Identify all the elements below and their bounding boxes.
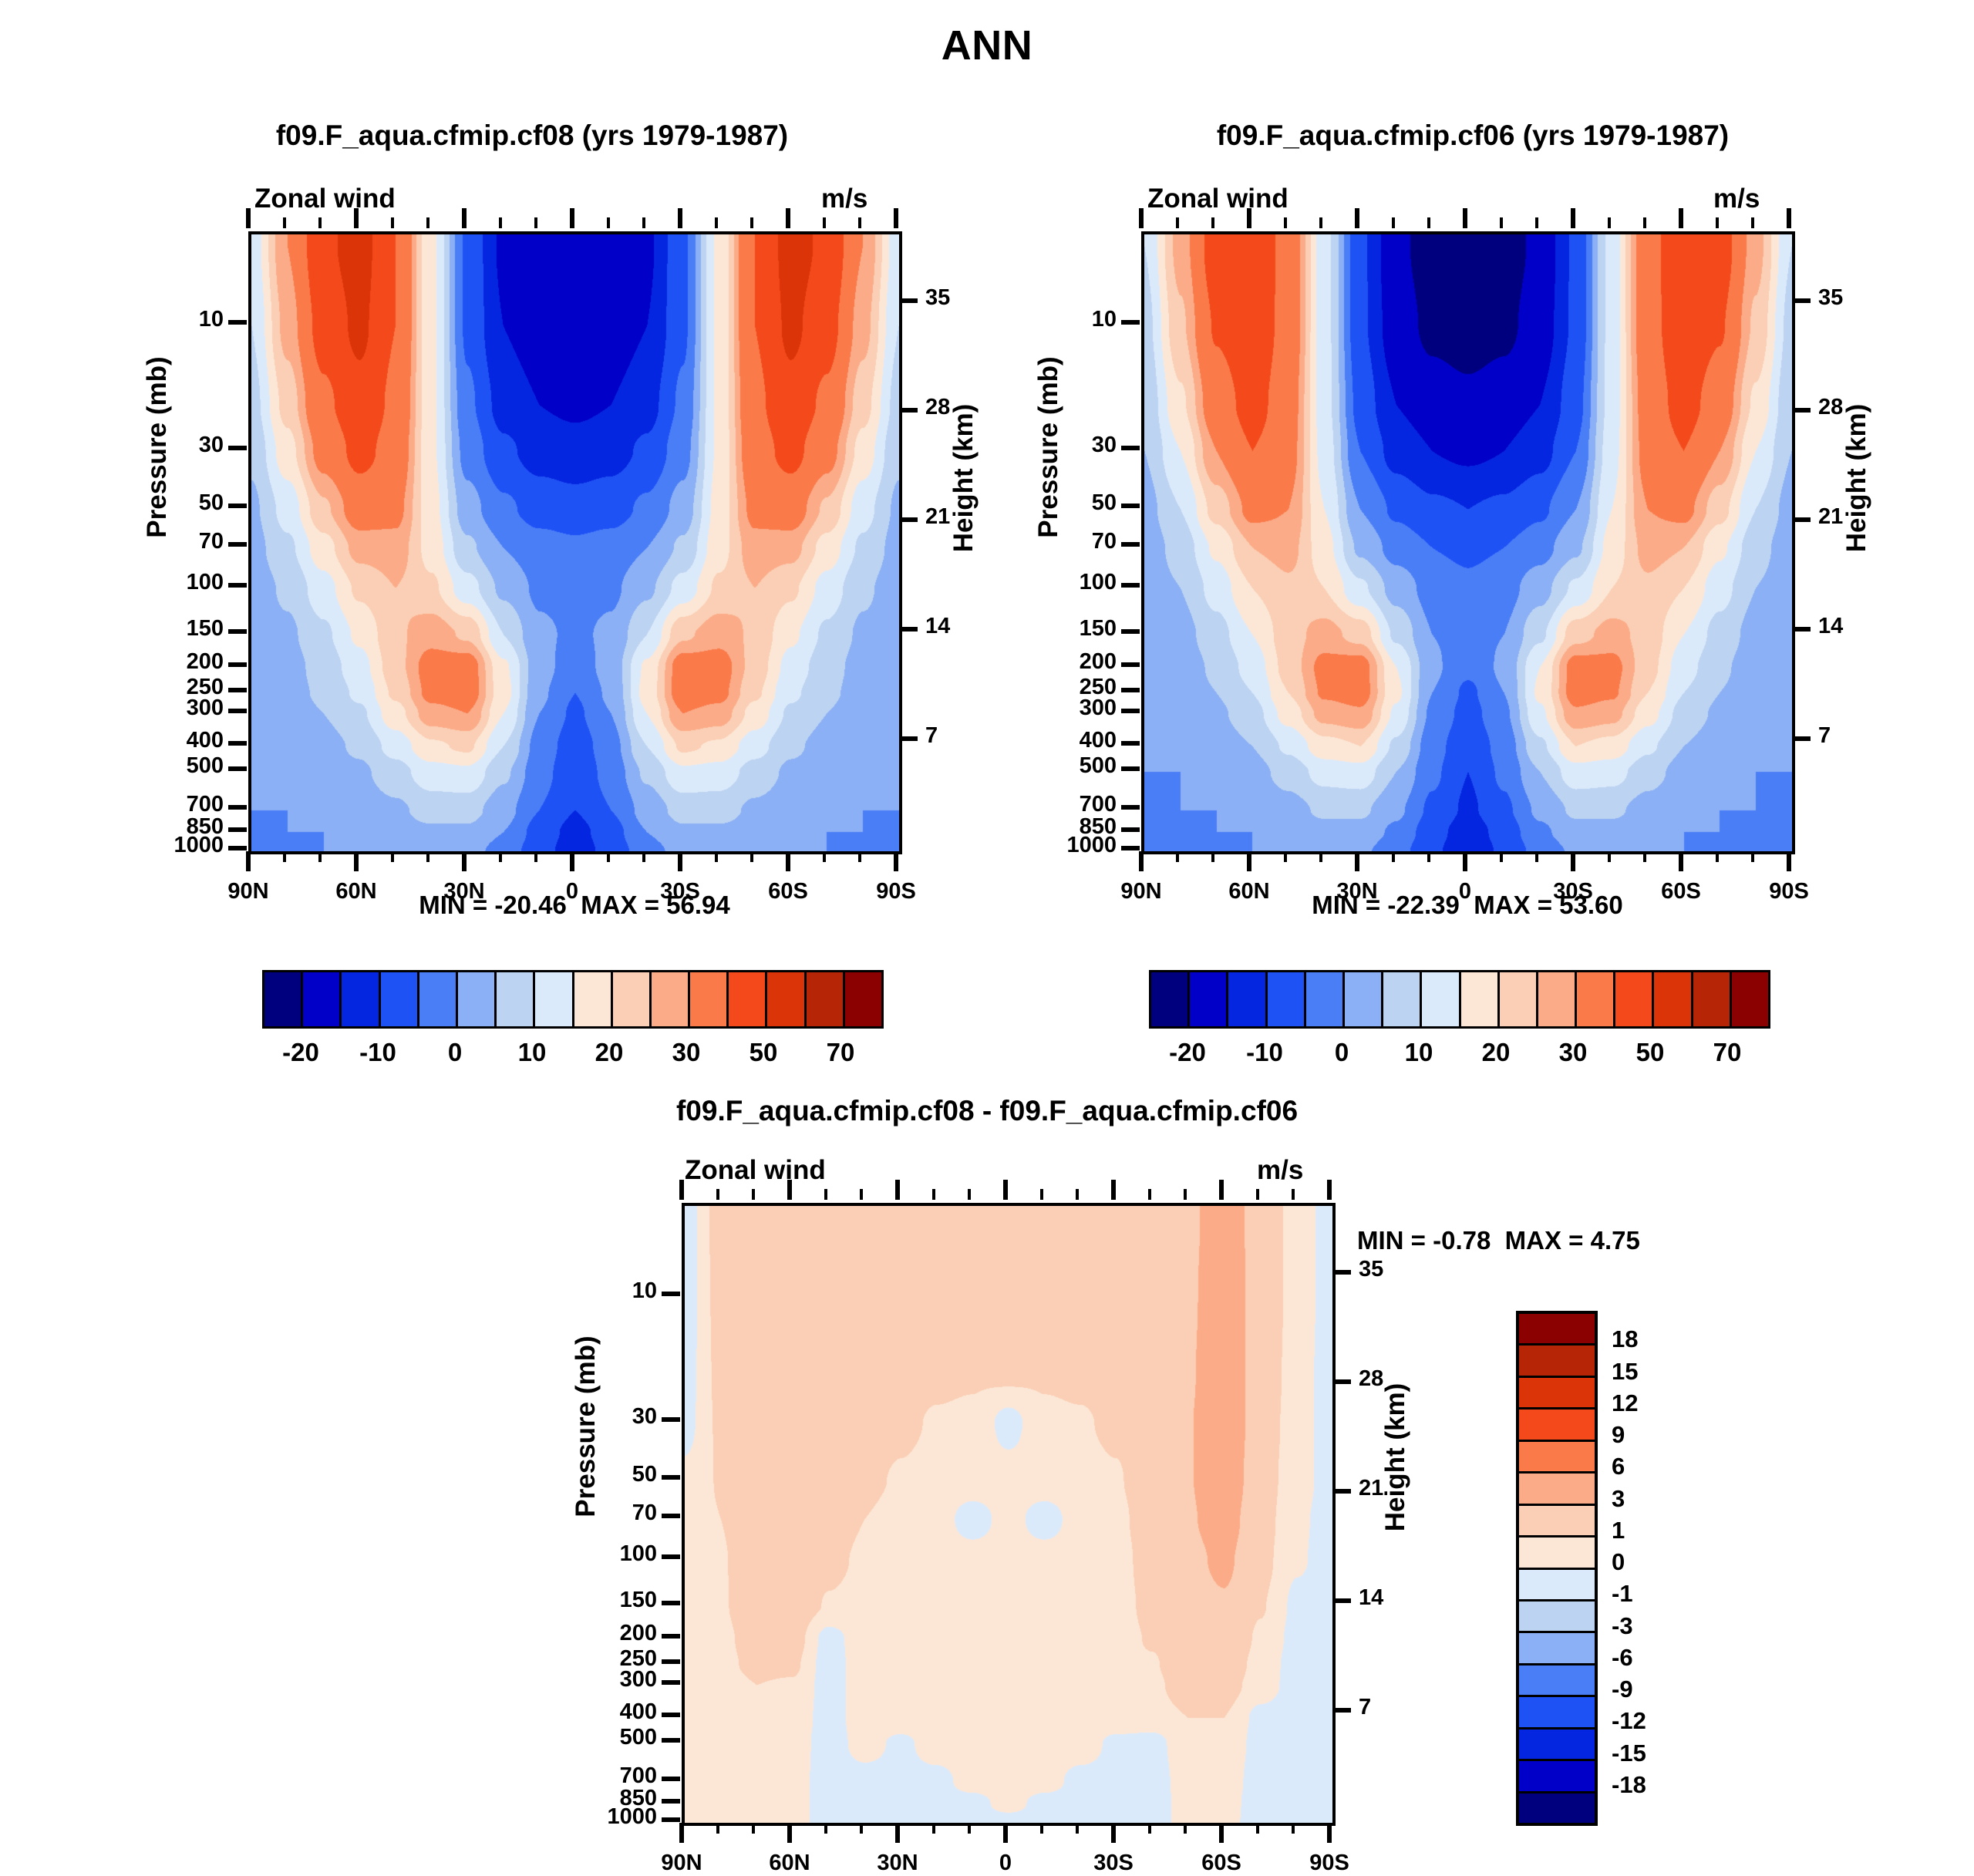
x-minor-tick-top — [715, 217, 718, 228]
height-tick-label: 35 — [1818, 285, 1911, 311]
contour-field-top-left — [251, 234, 899, 851]
colorbar-top-right — [1149, 970, 1770, 1029]
minmax-top-right: MIN = -22.39 MAX = 53.60 — [1155, 891, 1780, 920]
x-major-tick-bottom — [786, 851, 790, 871]
pressure-tick — [1121, 542, 1140, 547]
pressure-tick — [1121, 741, 1140, 746]
x-major-tick-top — [1247, 208, 1251, 228]
colorbar-cell — [419, 972, 458, 1026]
pressure-tick — [1121, 629, 1140, 634]
x-minor-tick-bottom — [283, 851, 286, 862]
pressure-tick — [662, 1634, 680, 1639]
x-minor-tick-top — [1284, 217, 1287, 228]
colorbar-cell — [1538, 972, 1577, 1026]
x-minor-tick-bottom — [1256, 1823, 1259, 1834]
pressure-tick — [228, 688, 247, 692]
colorbar-cell — [1345, 972, 1383, 1026]
height-tick — [899, 517, 918, 522]
pressure-tick — [228, 504, 247, 508]
pressure-tick — [1121, 504, 1140, 508]
x-major-tick-bottom — [787, 1823, 792, 1843]
pressure-tick — [228, 741, 247, 746]
units-label-top-right: m/s — [1713, 184, 1760, 214]
pressure-tick-label: 30 — [79, 433, 224, 458]
height-tick-label: 14 — [1359, 1585, 1451, 1611]
colorbar-tick-label: 70 — [1666, 1038, 1789, 1067]
x-minor-tick-top — [1643, 217, 1646, 228]
height-tick-label: 35 — [1359, 1257, 1451, 1282]
pressure-tick-label: 50 — [972, 490, 1117, 516]
pressure-tick — [1121, 805, 1140, 810]
colorbar-difference — [1516, 1311, 1598, 1826]
x-major-tick-bottom — [462, 851, 467, 871]
colorbar-tick-label: 70 — [779, 1038, 902, 1067]
pressure-tick-label: 50 — [512, 1462, 657, 1487]
pressure-tick-label: 300 — [79, 696, 224, 721]
pressure-tick-label: 10 — [972, 307, 1117, 332]
colorbar-tick-label: -6 — [1612, 1644, 1727, 1672]
min-value-difference: MIN = -0.78 — [1357, 1226, 1491, 1255]
height-tick — [1792, 298, 1811, 303]
colorbar-cell — [1519, 1346, 1595, 1377]
colorbar-cell — [1519, 1538, 1595, 1569]
x-minor-tick-bottom — [499, 851, 502, 862]
height-tick-label: 7 — [1359, 1695, 1451, 1720]
colorbar-cell — [807, 972, 845, 1026]
pressure-tick — [228, 446, 247, 450]
x-major-tick-top — [1111, 1180, 1116, 1200]
x-minor-tick-top — [1751, 217, 1754, 228]
x-minor-tick-bottom — [1751, 851, 1754, 862]
x-minor-tick-bottom — [858, 851, 861, 862]
height-tick — [1792, 627, 1811, 632]
pressure-tick-label: 200 — [79, 649, 224, 675]
x-minor-tick-bottom — [716, 1823, 719, 1834]
x-major-tick-top — [679, 1180, 684, 1200]
pressure-tick — [662, 1417, 680, 1422]
height-tick-label: 21 — [1359, 1476, 1451, 1501]
variable-label-top-left: Zonal wind — [254, 184, 396, 214]
x-minor-tick-top — [1427, 217, 1430, 228]
x-tick-label: 60N — [736, 1851, 844, 1876]
x-minor-tick-top — [1256, 1189, 1259, 1200]
units-label-top-left: m/s — [821, 184, 867, 214]
colorbar-cell — [1461, 972, 1500, 1026]
x-major-tick-bottom — [894, 851, 898, 871]
colorbar-cell — [1519, 1793, 1595, 1823]
colorbar-tick-label: 1 — [1612, 1517, 1727, 1544]
colorbar-tick-label: 15 — [1612, 1358, 1727, 1386]
x-minor-tick-bottom — [607, 851, 610, 862]
pressure-tick-label: 500 — [972, 753, 1117, 779]
pressure-tick — [662, 1601, 680, 1605]
pressure-tick-label: 500 — [512, 1725, 657, 1750]
pressure-tick — [228, 709, 247, 713]
colorbar-cell — [1615, 972, 1654, 1026]
pressure-tick — [662, 1514, 680, 1518]
x-major-tick-bottom — [678, 851, 682, 871]
height-tick — [899, 298, 918, 303]
colorbar-tick-label: 3 — [1612, 1485, 1727, 1513]
pressure-tick-label: 50 — [79, 490, 224, 516]
x-minor-tick-bottom — [1608, 851, 1611, 862]
height-tick — [899, 627, 918, 632]
pressure-tick-label: 150 — [79, 616, 224, 642]
x-tick-label: 60S — [1167, 1851, 1275, 1876]
max-value-top-left: MAX = 56.94 — [581, 891, 730, 919]
contour-field-top-right — [1144, 234, 1792, 851]
height-tick-label: 14 — [1818, 614, 1911, 639]
colorbar-cell — [1519, 1442, 1595, 1474]
pressure-tick-label: 500 — [79, 753, 224, 779]
x-minor-tick-top — [499, 217, 502, 228]
colorbar-cell — [845, 972, 881, 1026]
pressure-tick — [662, 1554, 680, 1559]
x-minor-tick-top — [534, 217, 537, 228]
colorbar-cell — [535, 972, 574, 1026]
x-major-tick-bottom — [1787, 851, 1791, 871]
min-value-top-right: MIN = -22.39 — [1312, 891, 1460, 919]
x-minor-tick-top — [824, 1189, 827, 1200]
x-tick-label: 90N — [628, 1851, 736, 1876]
colorbar-cell — [1519, 1506, 1595, 1538]
figure-title: ANN — [0, 22, 1974, 69]
pressure-tick-label: 400 — [79, 728, 224, 753]
x-major-tick-top — [1355, 208, 1359, 228]
x-minor-tick-bottom — [752, 1823, 755, 1834]
x-minor-tick-top — [1076, 1189, 1079, 1200]
minmax-difference: MIN = -0.78 MAX = 4.75 — [1357, 1226, 1774, 1255]
pressure-tick — [1121, 583, 1140, 588]
pressure-tick — [228, 805, 247, 810]
height-tick-label: 21 — [1818, 504, 1911, 530]
x-minor-tick-bottom — [426, 851, 429, 862]
colorbar-cell — [1151, 972, 1190, 1026]
pressure-tick — [662, 1777, 680, 1781]
colorbar-cell — [1654, 972, 1693, 1026]
panel-title-top-right: f09.F_aqua.cfmip.cf06 (yrs 1979-1987) — [1080, 120, 1866, 152]
colorbar-cell — [1500, 972, 1538, 1026]
x-major-tick-bottom — [1679, 851, 1683, 871]
x-minor-tick-bottom — [968, 1823, 971, 1834]
x-minor-tick-top — [318, 217, 322, 228]
pressure-tick — [228, 766, 247, 771]
panel-title-difference: f09.F_aqua.cfmip.cf08 - f09.F_aqua.cfmip… — [586, 1095, 1388, 1127]
pressure-tick-label: 400 — [972, 728, 1117, 753]
height-tick — [1332, 1379, 1351, 1384]
x-minor-tick-top — [860, 1189, 863, 1200]
x-minor-tick-bottom — [1284, 851, 1287, 862]
panel-title-top-left: f09.F_aqua.cfmip.cf08 (yrs 1979-1987) — [139, 120, 925, 152]
x-major-tick-bottom — [1355, 851, 1359, 871]
pressure-tick — [662, 1713, 680, 1717]
x-major-tick-bottom — [1247, 851, 1251, 871]
contour-field-difference — [685, 1206, 1332, 1823]
colorbar-tick-label: -3 — [1612, 1612, 1727, 1640]
x-minor-tick-bottom — [860, 1823, 863, 1834]
colorbar-cell — [458, 972, 497, 1026]
colorbar-cell — [303, 972, 342, 1026]
height-tick — [1792, 408, 1811, 413]
x-minor-tick-bottom — [1211, 851, 1214, 862]
x-major-tick-top — [1787, 208, 1791, 228]
colorbar-cell — [1519, 1602, 1595, 1633]
pressure-tick — [662, 1292, 680, 1296]
colorbar-cell — [497, 972, 535, 1026]
colorbar-cell — [1519, 1474, 1595, 1505]
colorbar-tick-label: 0 — [1612, 1548, 1727, 1576]
pressure-tick — [228, 662, 247, 667]
x-major-tick-bottom — [1111, 1823, 1116, 1843]
colorbar-cell — [1422, 972, 1460, 1026]
height-tick-label: 28 — [925, 395, 1018, 420]
pressure-tick-label: 1000 — [512, 1804, 657, 1830]
x-minor-tick-top — [1176, 217, 1179, 228]
x-minor-tick-top — [1184, 1189, 1187, 1200]
pressure-tick-label: 150 — [972, 616, 1117, 642]
height-tick — [1792, 736, 1811, 741]
pressure-tick — [1121, 766, 1140, 771]
colorbar-cell — [1693, 972, 1732, 1026]
pressure-tick-label: 10 — [79, 307, 224, 332]
pressure-tick — [1121, 827, 1140, 832]
plot-area-top-left — [248, 231, 902, 854]
colorbar-cell — [1519, 1378, 1595, 1410]
pressure-tick — [662, 1738, 680, 1743]
colorbar-cell — [1268, 972, 1306, 1026]
colorbar-cell — [1577, 972, 1615, 1026]
pressure-tick-label: 70 — [972, 529, 1117, 554]
plot-area-top-right — [1141, 231, 1795, 854]
colorbar-tick-label: 18 — [1612, 1325, 1727, 1353]
x-minor-tick-top — [1535, 217, 1538, 228]
colorbar-cell — [767, 972, 806, 1026]
x-minor-tick-bottom — [750, 851, 753, 862]
x-minor-tick-bottom — [534, 851, 537, 862]
x-minor-tick-bottom — [715, 851, 718, 862]
x-major-tick-top — [894, 208, 898, 228]
pressure-tick — [1121, 320, 1140, 325]
x-major-tick-top — [570, 208, 574, 228]
x-minor-tick-bottom — [318, 851, 322, 862]
x-minor-tick-top — [1319, 217, 1322, 228]
x-major-tick-bottom — [679, 1823, 684, 1843]
colorbar-cell — [1519, 1314, 1595, 1346]
colorbar-tick-label: -12 — [1612, 1707, 1727, 1735]
x-minor-tick-top — [607, 217, 610, 228]
height-tick — [1332, 1270, 1351, 1275]
x-minor-tick-bottom — [1184, 1823, 1187, 1834]
x-minor-tick-top — [283, 217, 286, 228]
x-major-tick-top — [1219, 1180, 1224, 1200]
x-minor-tick-bottom — [1148, 1823, 1151, 1834]
colorbar-cell — [381, 972, 419, 1026]
pressure-tick-label: 200 — [972, 649, 1117, 675]
x-minor-tick-top — [391, 217, 394, 228]
pressure-tick — [228, 583, 247, 588]
x-minor-tick-top — [1040, 1189, 1043, 1200]
x-major-tick-bottom — [354, 851, 359, 871]
height-tick — [1332, 1708, 1351, 1713]
x-minor-tick-bottom — [1716, 851, 1719, 862]
pressure-tick-label: 1000 — [972, 833, 1117, 858]
colorbar-tick-label: -9 — [1612, 1676, 1727, 1703]
x-minor-tick-top — [752, 1189, 755, 1200]
x-minor-tick-bottom — [932, 1823, 935, 1834]
x-minor-tick-top — [968, 1189, 971, 1200]
height-tick-label: 28 — [1359, 1366, 1451, 1392]
x-minor-tick-top — [1716, 217, 1719, 228]
x-minor-tick-bottom — [1319, 851, 1322, 862]
x-tick-label: 90S — [1275, 1851, 1383, 1876]
colorbar-cell — [652, 972, 690, 1026]
pressure-tick-label: 200 — [512, 1621, 657, 1646]
pressure-tick-label: 300 — [512, 1667, 657, 1692]
x-minor-tick-top — [1211, 217, 1214, 228]
x-minor-tick-top — [932, 1189, 935, 1200]
x-major-tick-bottom — [1219, 1823, 1224, 1843]
variable-label-top-right: Zonal wind — [1147, 184, 1288, 214]
x-minor-tick-bottom — [1176, 851, 1179, 862]
colorbar-cell — [1519, 1729, 1595, 1761]
colorbar-tick-label: 6 — [1612, 1453, 1727, 1480]
x-minor-tick-top — [1392, 217, 1395, 228]
x-minor-tick-top — [426, 217, 429, 228]
pressure-tick — [662, 1659, 680, 1664]
variable-label-difference: Zonal wind — [685, 1155, 826, 1186]
x-major-tick-top — [246, 208, 251, 228]
colorbar-cell — [1732, 972, 1768, 1026]
colorbar-tick-label: -1 — [1612, 1580, 1727, 1608]
colorbar-tick-label: -15 — [1612, 1740, 1727, 1767]
x-major-tick-bottom — [1139, 851, 1144, 871]
height-tick — [1332, 1598, 1351, 1603]
x-minor-tick-bottom — [1500, 851, 1503, 862]
max-value-top-right: MAX = 53.60 — [1474, 891, 1623, 919]
x-minor-tick-top — [750, 217, 753, 228]
pressure-tick-label: 100 — [972, 570, 1117, 595]
x-minor-tick-top — [1148, 1189, 1151, 1200]
x-major-tick-top — [1679, 208, 1683, 228]
pressure-tick — [1121, 688, 1140, 692]
pressure-tick-label: 400 — [512, 1699, 657, 1725]
pressure-tick-label: 70 — [512, 1500, 657, 1526]
colorbar-cell — [342, 972, 380, 1026]
pressure-tick-label: 1000 — [79, 833, 224, 858]
colorbar-tick-label: 12 — [1612, 1389, 1727, 1417]
x-minor-tick-bottom — [1292, 1823, 1295, 1834]
colorbar-cell — [1519, 1665, 1595, 1697]
colorbar-cell — [1306, 972, 1345, 1026]
x-minor-tick-bottom — [1076, 1823, 1079, 1834]
colorbar-tick-label: 9 — [1612, 1421, 1727, 1449]
pressure-tick — [1121, 662, 1140, 667]
pressure-tick — [662, 1680, 680, 1685]
x-major-tick-top — [1003, 1180, 1008, 1200]
x-minor-tick-bottom — [1535, 851, 1538, 862]
x-minor-tick-bottom — [642, 851, 645, 862]
colorbar-cell — [690, 972, 729, 1026]
colorbar-top-left — [262, 970, 884, 1029]
colorbar-cell — [1383, 972, 1422, 1026]
pressure-tick — [1121, 709, 1140, 713]
pressure-tick — [228, 320, 247, 325]
plot-area-difference — [682, 1203, 1336, 1826]
x-major-tick-top — [1463, 208, 1467, 228]
x-minor-tick-bottom — [391, 851, 394, 862]
colorbar-cell — [574, 972, 613, 1026]
colorbar-cell — [1228, 972, 1267, 1026]
x-minor-tick-bottom — [1040, 1823, 1043, 1834]
x-major-tick-bottom — [895, 1823, 900, 1843]
x-major-tick-top — [354, 208, 359, 228]
pressure-tick — [662, 1475, 680, 1480]
x-minor-tick-bottom — [1392, 851, 1395, 862]
x-major-tick-bottom — [246, 851, 251, 871]
height-tick — [1792, 517, 1811, 522]
x-major-tick-bottom — [1327, 1823, 1332, 1843]
x-minor-tick-bottom — [824, 1823, 827, 1834]
colorbar-cell — [1190, 972, 1228, 1026]
x-major-tick-bottom — [1463, 851, 1467, 871]
pressure-tick-label: 30 — [512, 1404, 657, 1430]
colorbar-cell — [613, 972, 652, 1026]
pressure-tick — [228, 629, 247, 634]
pressure-tick-label: 150 — [512, 1588, 657, 1613]
x-major-tick-top — [1139, 208, 1144, 228]
x-major-tick-top — [678, 208, 682, 228]
x-major-tick-bottom — [1003, 1823, 1008, 1843]
max-value-difference: MAX = 4.75 — [1505, 1226, 1640, 1255]
pressure-tick-label: 70 — [79, 529, 224, 554]
x-minor-tick-top — [1292, 1189, 1295, 1200]
height-tick-label: 7 — [1818, 723, 1911, 749]
x-minor-tick-bottom — [1643, 851, 1646, 862]
x-tick-label: 30S — [1059, 1851, 1167, 1876]
height-tick — [1332, 1489, 1351, 1494]
x-major-tick-top — [1327, 1180, 1332, 1200]
pressure-tick — [228, 827, 247, 832]
height-tick-label: 28 — [1818, 395, 1911, 420]
x-minor-tick-top — [642, 217, 645, 228]
units-label-difference: m/s — [1257, 1155, 1303, 1186]
colorbar-cell — [1519, 1697, 1595, 1729]
colorbar-cell — [729, 972, 767, 1026]
x-major-tick-top — [1571, 208, 1575, 228]
x-minor-tick-top — [1608, 217, 1611, 228]
pressure-tick-label: 100 — [79, 570, 224, 595]
pressure-tick-label: 30 — [972, 433, 1117, 458]
pressure-tick — [228, 846, 247, 850]
pressure-tick — [662, 1799, 680, 1804]
colorbar-cell — [1519, 1761, 1595, 1793]
x-minor-tick-top — [858, 217, 861, 228]
pressure-tick-label: 10 — [512, 1278, 657, 1304]
min-value-top-left: MIN = -20.46 — [419, 891, 567, 919]
x-major-tick-top — [895, 1180, 900, 1200]
x-tick-label: 30N — [844, 1851, 952, 1876]
pressure-tick-label: 100 — [512, 1541, 657, 1567]
x-major-tick-bottom — [570, 851, 574, 871]
colorbar-cell — [1519, 1410, 1595, 1441]
x-major-tick-bottom — [1571, 851, 1575, 871]
x-minor-tick-top — [823, 217, 826, 228]
height-tick — [899, 408, 918, 413]
colorbar-cell — [264, 972, 303, 1026]
colorbar-cell — [1519, 1570, 1595, 1602]
pressure-tick — [1121, 846, 1140, 850]
x-tick-label: 0 — [952, 1851, 1059, 1876]
